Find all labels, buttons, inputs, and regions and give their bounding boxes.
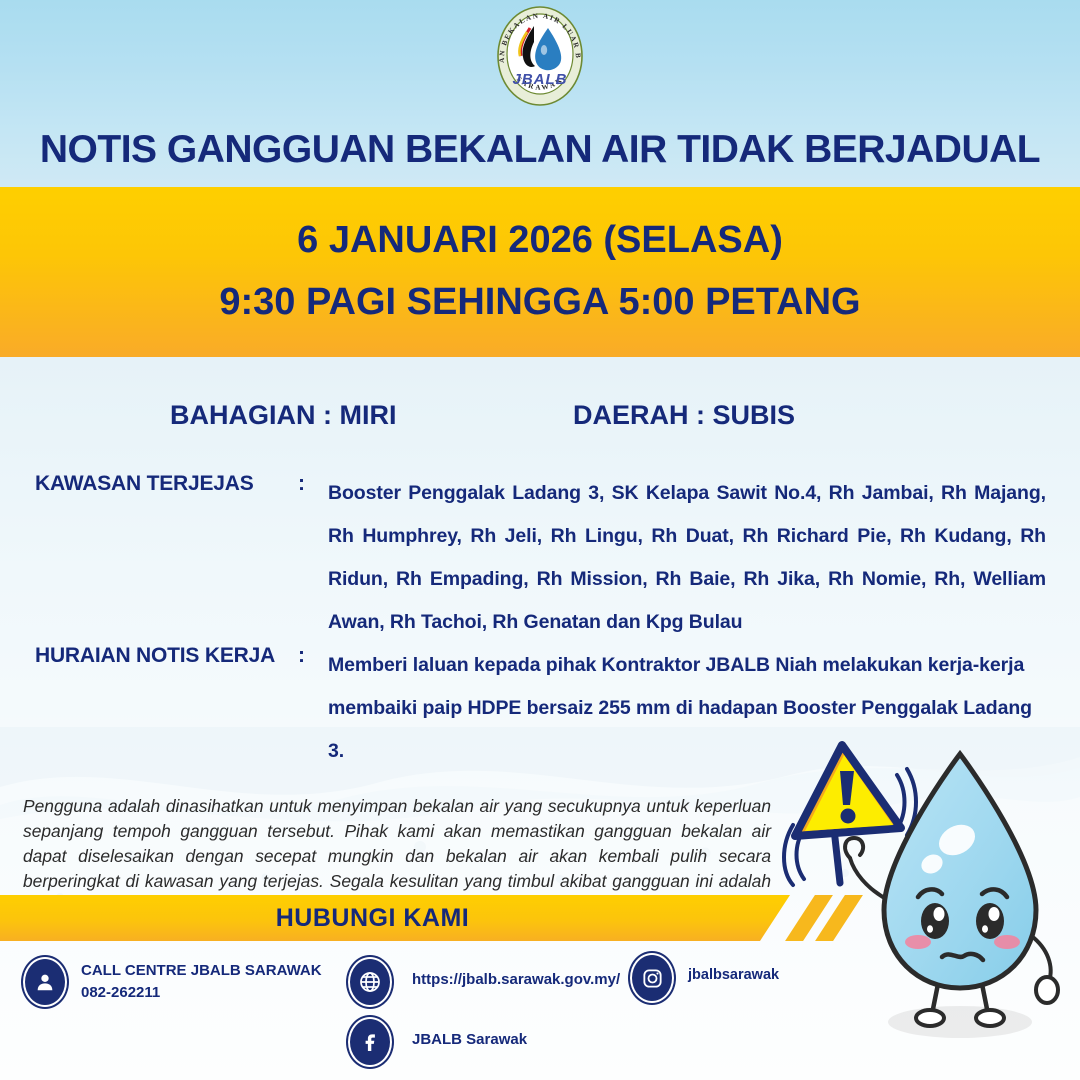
work-description-label: HURAIAN NOTIS KERJA (35, 644, 275, 668)
region-row: BAHAGIAN : MIRI DAERAH : SUBIS (0, 400, 1080, 440)
facebook-handle[interactable]: JBALB Sarawak (412, 1031, 527, 1048)
affected-areas-value: Booster Penggalak Ladang 3, SK Kelapa Sa… (328, 472, 1046, 644)
page-title: NOTIS GANGGUAN BEKALAN AIR TIDAK BERJADU… (0, 128, 1080, 172)
person-icon (23, 957, 67, 1007)
svg-text:JBALB: JBALB (512, 71, 567, 88)
bahagian-label: BAHAGIAN : MIRI (170, 400, 396, 431)
disruption-date: 6 JANUARI 2026 (SELASA) (0, 219, 1080, 262)
jbalb-logo: JABATAN BEKALAN AIR LUAR BANDAR SARAWAK … (488, 4, 592, 108)
call-centre-number: 082-262211 (81, 982, 322, 1004)
affected-areas-colon: : (298, 472, 305, 496)
facebook-icon (348, 1017, 392, 1067)
website-url[interactable]: https://jbalb.sarawak.gov.my/ (412, 971, 620, 988)
affected-areas-label: KAWASAN TERJEJAS (35, 472, 254, 496)
call-centre-text: CALL CENTRE JBALB SARAWAK 082-262211 (81, 960, 322, 1004)
poster-header: JABATAN BEKALAN AIR LUAR BANDAR SARAWAK … (0, 0, 1080, 187)
water-droplet-mascot (840, 722, 1080, 1080)
work-description-colon: : (298, 644, 305, 668)
instagram-icon (630, 953, 674, 1003)
disruption-time: 9:30 PAGI SEHINGGA 5:00 PETANG (0, 281, 1080, 324)
globe-icon (348, 957, 392, 1007)
water-disruption-notice-poster: JABATAN BEKALAN AIR LUAR BANDAR SARAWAK … (0, 0, 1080, 1080)
call-centre-name: CALL CENTRE JBALB SARAWAK (81, 960, 322, 982)
instagram-handle[interactable]: jbalbsarawak (688, 967, 779, 983)
date-time-banner: 6 JANUARI 2026 (SELASA) 9:30 PAGI SEHING… (0, 187, 1080, 357)
contact-banner-title: HUBUNGI KAMI (0, 904, 745, 933)
daerah-label: DAERAH : SUBIS (573, 400, 795, 431)
